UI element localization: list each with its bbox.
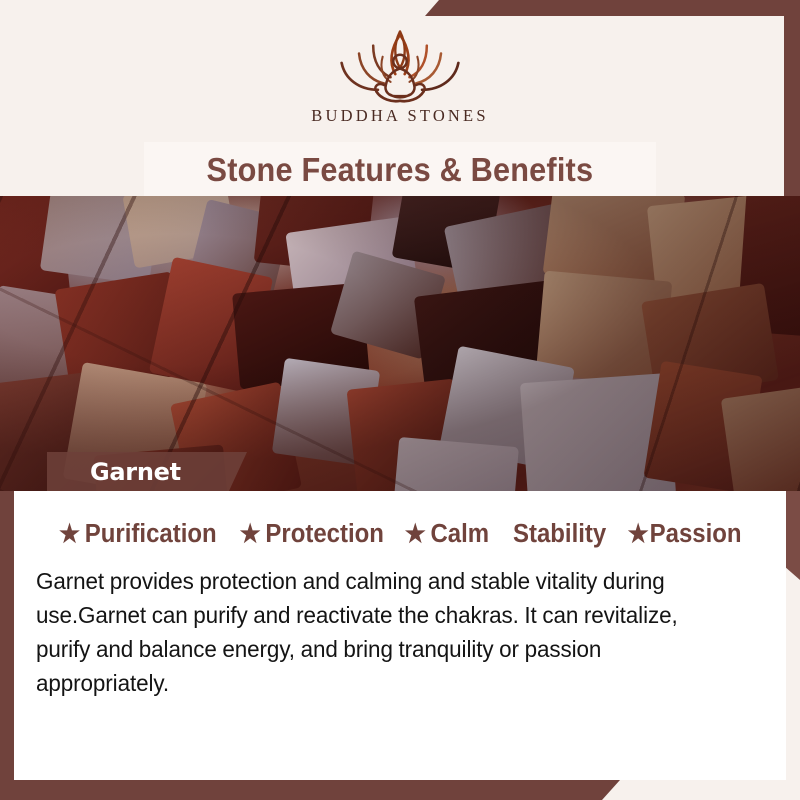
decor-bottom-left-bar — [0, 780, 620, 800]
brand-name: BUDDHA STONES — [311, 106, 488, 126]
garnet-photo — [0, 196, 800, 491]
feature-label: Purification — [85, 520, 217, 549]
feature-item-calm: ★ Calm — [404, 520, 488, 549]
star-icon: ★ — [59, 522, 80, 547]
feature-item-passion: ★ Passion — [628, 520, 742, 549]
star-icon: ★ — [240, 522, 261, 547]
stone-name: Garnet — [47, 458, 181, 486]
section-title-band: Stone Features & Benefits — [144, 142, 656, 197]
feature-list: ★ Purification ★ Protection ★ Calm Stabi… — [36, 520, 764, 549]
product-infographic-poster: BUDDHA STONES Stone Features & Benefits — [0, 0, 800, 800]
stone-name-banner: Garnet — [47, 452, 247, 491]
feature-item-stability: Stability — [513, 520, 606, 549]
star-icon: ★ — [628, 522, 649, 547]
feature-item-protection: ★ Protection — [240, 520, 384, 549]
feature-item-purification: ★ Purification — [59, 520, 217, 549]
lotus-meditation-icon — [320, 22, 480, 104]
details-panel: ★ Purification ★ Protection ★ Calm Stabi… — [14, 491, 786, 780]
feature-label: Protection — [265, 520, 384, 549]
feature-label: Passion — [650, 520, 742, 549]
brand-header: BUDDHA STONES — [0, 0, 800, 145]
feature-label: Stability — [513, 520, 606, 549]
stone-description: Garnet provides protection and calming a… — [36, 564, 731, 700]
star-icon: ★ — [404, 522, 425, 547]
feature-label: Calm — [430, 520, 489, 549]
page-title: Stone Features & Benefits — [207, 151, 594, 189]
photo-vignette — [0, 196, 800, 491]
